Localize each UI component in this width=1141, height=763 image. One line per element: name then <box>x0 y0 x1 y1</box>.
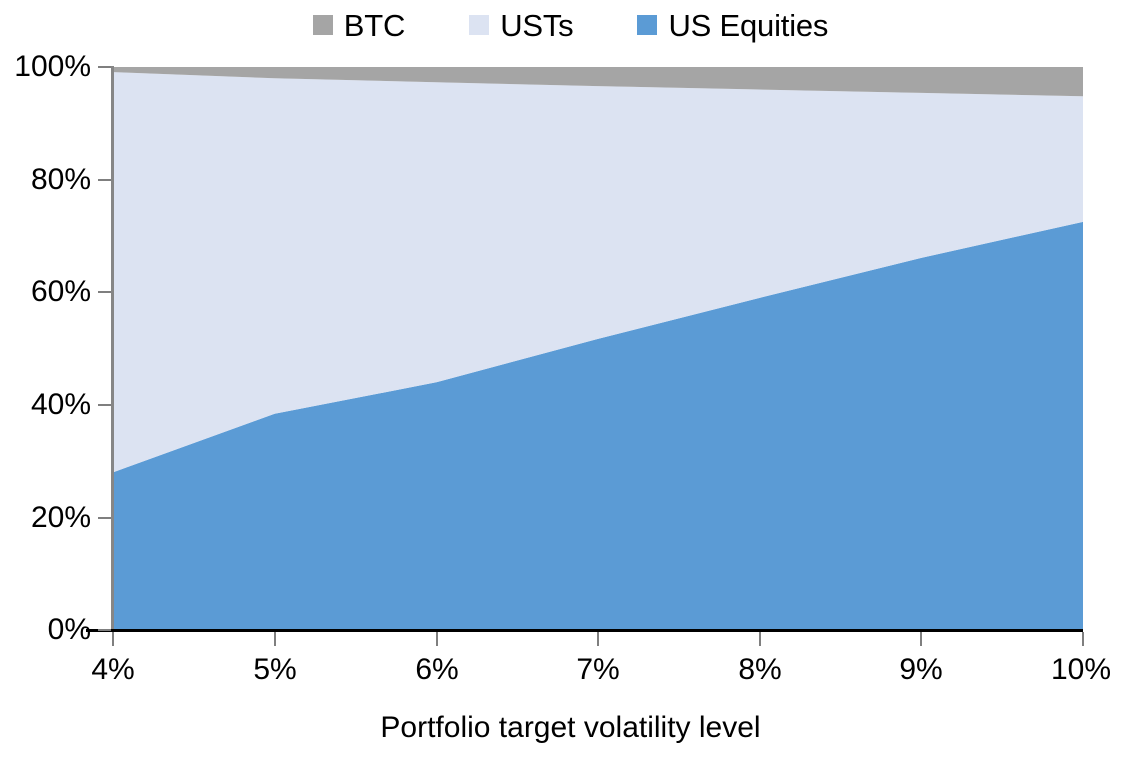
x-tick-mark <box>1082 632 1084 646</box>
x-axis-label-10: 10% <box>1021 655 1141 685</box>
y-axis-label-20: 20% <box>0 503 91 533</box>
x-tick-mark <box>759 632 761 646</box>
legend-label-us-equities: US Equities <box>668 10 828 41</box>
legend-item-us-equities[interactable]: US Equities <box>637 10 828 41</box>
legend-label-usts: USTs <box>500 10 573 41</box>
y-axis-label-80: 80% <box>0 165 91 195</box>
x-axis-label-7: 7% <box>538 655 658 685</box>
x-tick-mark <box>274 632 276 646</box>
x-tick-mark <box>920 632 922 646</box>
y-tick-mark <box>98 629 111 631</box>
x-tick-mark <box>112 632 114 646</box>
y-axis-label-100: 100% <box>0 52 91 82</box>
y-tick-mark <box>98 179 111 181</box>
y-tick-mark <box>98 404 111 406</box>
legend-item-usts[interactable]: USTs <box>469 10 573 41</box>
area-series-canvas <box>113 67 1083 630</box>
y-axis-label-40: 40% <box>0 390 91 420</box>
y-tick-mark <box>98 517 111 519</box>
x-axis-line <box>86 629 1083 632</box>
square-swatch-icon <box>313 15 333 35</box>
x-axis-label-9: 9% <box>861 655 981 685</box>
plot-area <box>113 67 1083 630</box>
x-axis-label-5: 5% <box>215 655 335 685</box>
y-axis-line <box>111 66 114 632</box>
legend-label-btc: BTC <box>344 10 405 41</box>
y-tick-mark <box>98 291 111 293</box>
y-axis-label-0: 0% <box>0 615 91 645</box>
legend-item-btc[interactable]: BTC <box>313 10 405 41</box>
y-axis-label-60: 60% <box>0 277 91 307</box>
x-tick-mark <box>597 632 599 646</box>
x-axis-label-4: 4% <box>53 655 173 685</box>
x-axis-title: Portfolio target volatility level <box>0 711 1141 745</box>
chart-legend: BTC USTs US Equities <box>0 4 1141 46</box>
stacked-area-chart: BTC USTs US Equities 100% 80% 60% 40% 20… <box>0 0 1141 763</box>
x-axis-label-6: 6% <box>377 655 497 685</box>
x-tick-mark <box>436 632 438 646</box>
square-swatch-icon <box>637 15 657 35</box>
y-tick-mark <box>98 66 111 68</box>
square-swatch-icon <box>469 15 489 35</box>
x-axis-label-8: 8% <box>700 655 820 685</box>
